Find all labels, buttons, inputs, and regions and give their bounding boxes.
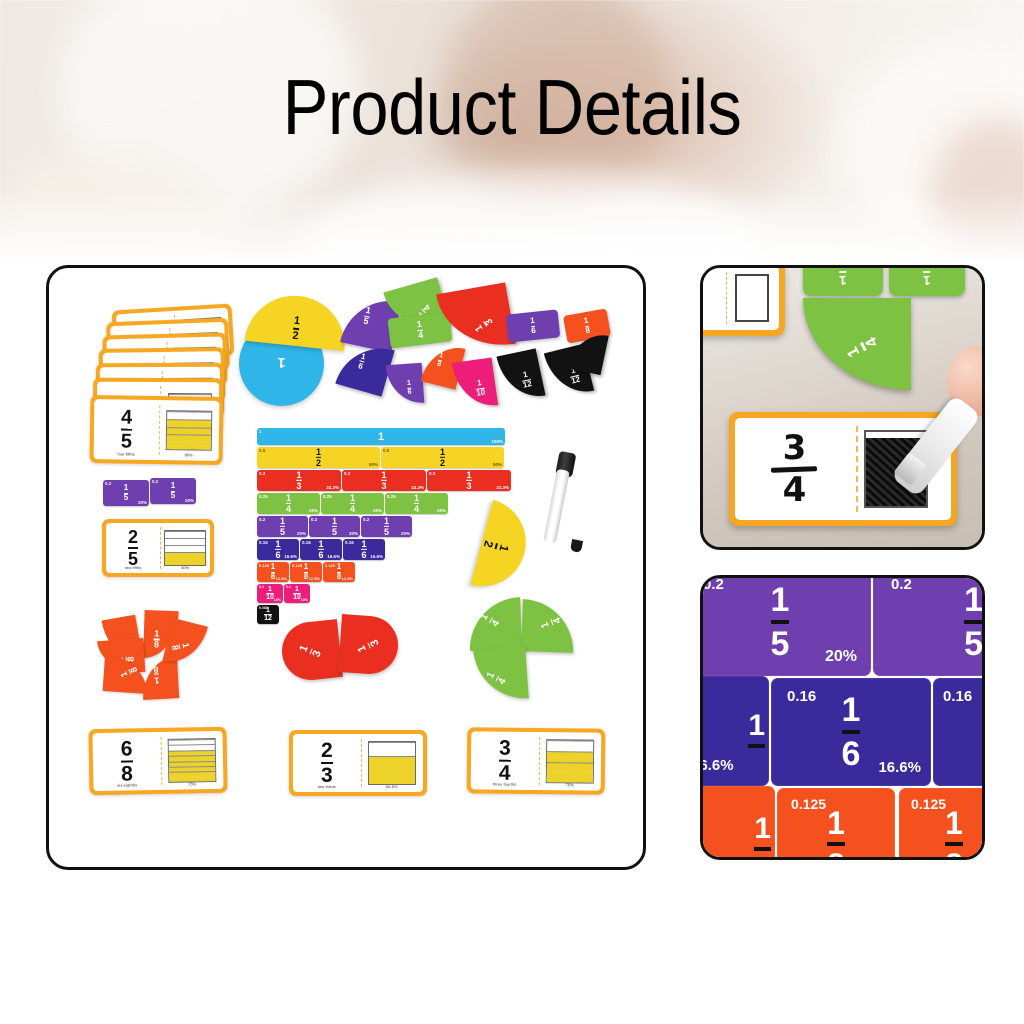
chart-tile-1-4a-numerator: 1 [286, 493, 291, 502]
chart-tile-1-3-a[interactable]: 0.3 1 3 33.3% [257, 470, 341, 491]
card-3-4[interactable]: 3 4 three fourths 75% [467, 727, 606, 794]
closeup-1-8a-numerator: 1 [754, 814, 771, 844]
wedge-1-4a-denominator: 4 [423, 302, 433, 312]
chart-tile-1-3-c[interactable]: 0.3 1 3 33.3% [427, 470, 511, 491]
chart-tile-1-4a-percent: 25% [309, 508, 318, 513]
card-2-3-numerator: 2 [321, 740, 333, 761]
wedge-1-8b-denominator: 8 [436, 361, 441, 369]
closeup-tile-1-6-c[interactable]: 0.16 [933, 678, 985, 786]
chart-tile-1-5b-numerator: 1 [332, 516, 337, 525]
chart-tile-1-12-numerator: 1 [266, 607, 270, 614]
chart-tile-1-8b-percent: 12.5% [309, 576, 320, 581]
circle-piece-half[interactable]: 1 2 [245, 291, 350, 351]
chart-tile-1-3b-denominator: 3 [381, 482, 386, 491]
chart-tile-1-12[interactable]: 0.083 1 12 [257, 605, 279, 624]
chart-tile-1-5a-denominator: 5 [280, 528, 285, 537]
fan-4-numerator: 1 [120, 670, 130, 678]
wedge-1-6-denominator: 6 [357, 362, 363, 371]
circle-half-numerator: 1 [293, 316, 300, 328]
green-quarter-b[interactable]: 1 4 [521, 599, 575, 653]
card-3-4-denominator: 4 [499, 763, 511, 784]
wedge-1-5-numerator: 1 [365, 306, 372, 316]
card-2-3-percent: 66.6% [386, 784, 397, 789]
circle-half-denominator: 2 [292, 330, 299, 342]
card-2-5-word: two fifths [125, 565, 142, 570]
green-a-numerator: 1 [480, 612, 491, 622]
chart-tile-1-8-c[interactable]: 0.125 1 8 12.5% [323, 562, 355, 582]
fan-6-numerator: 1 [181, 642, 191, 649]
chart-tile-1-2b-denominator: 2 [440, 459, 445, 468]
wedge-1-5-denominator: 5 [363, 317, 370, 327]
loose-tile-b-percent: 20% [185, 498, 194, 503]
chart-tile-1-percent: 100% [491, 439, 503, 444]
chart-tile-1-4-c[interactable]: 0.25 1 4 25% [385, 493, 448, 514]
chart-tile-1-2-a[interactable]: 0.5 1 2 50% [257, 447, 380, 468]
chart-tile-1-10a-numerator: 1 [268, 586, 272, 593]
blank-dry-erase-card[interactable]: — [700, 265, 785, 336]
card-6-8-minibar [167, 738, 216, 783]
red-wedge-b[interactable]: 1 3 [338, 614, 400, 676]
hero-fade-overlay [0, 190, 1024, 270]
red-a-denominator: 3 [311, 649, 323, 659]
fan-1-numerator: 1 [154, 629, 159, 638]
chart-tile-1-10a-denominator: 10 [266, 594, 274, 601]
chart-tile-1-3a-percent: 33.3% [326, 485, 339, 490]
chart-tile-1-8-a[interactable]: 0.125 1 8 12.5% [257, 562, 289, 582]
chart-tile-1-4c-numerator: 1 [414, 493, 419, 502]
loose-tile-a-numerator: 1 [124, 484, 128, 492]
chart-tile-1-6a-numerator: 1 [275, 539, 280, 548]
wedge-1-8top-numerator: 1 [583, 317, 589, 326]
chart-tile-1-4-b[interactable]: 0.25 1 4 25% [321, 493, 384, 514]
green-c-numerator: 1 [486, 670, 497, 680]
chart-tile-1-10-a[interactable]: 0.1 1 10 10% [257, 584, 283, 603]
card-2-5-minibar [164, 530, 206, 566]
inset-green-piece-top-b[interactable]: 1 4 [889, 265, 965, 296]
loose-tile-1-5-b[interactable]: 0.2 1 5 20% [150, 478, 196, 504]
pair-1-3-group[interactable]: 1 3 1 3 [282, 616, 402, 696]
fan-5-denominator: 8 [153, 664, 159, 673]
handwritten-numerator: 3 [783, 432, 807, 464]
card-3-4-word: three fourths [493, 782, 517, 787]
wedge-1-12a-denominator: 12 [522, 380, 532, 390]
card-6-8[interactable]: 6 8 six eighths 75% [88, 727, 227, 795]
closeup-tile-1-6-b[interactable]: 0.16 1 6 16.6% [771, 678, 931, 786]
green-quarter-c[interactable]: 1 4 [473, 646, 529, 702]
chart-tile-1-3b-percent: 33.3% [411, 485, 424, 490]
inset-green-b-numerator: 1 [923, 274, 931, 287]
chart-tile-1-8c-numerator: 1 [337, 563, 341, 571]
fan-1-8-group[interactable]: 1 8 1 8 1 8 1 8 [97, 608, 213, 700]
chart-tile-1-2-b[interactable]: 0.5 1 2 50% [381, 447, 504, 468]
chart-tile-1-6b-denominator: 6 [318, 551, 323, 560]
chart-tile-1-10b-percent: 10% [301, 598, 308, 602]
wedge-1-3-denominator: 3 [484, 316, 495, 326]
page-title: Product Details [61, 68, 962, 146]
chart-tile-1-5a-percent: 20% [297, 531, 306, 536]
closeup-tile-1-5-b[interactable]: 0.2 1 5 [873, 575, 985, 676]
chart-tile-1-4b-denominator: 4 [350, 505, 355, 514]
chart-tile-1-6-c[interactable]: 0.16 1 6 16.6% [343, 539, 385, 560]
closeup-1-6a-numerator: 1 [748, 711, 765, 741]
chart-tile-1-3a-numerator: 1 [296, 470, 301, 479]
dry-erase-marker[interactable] [557, 456, 597, 566]
wedge-stack-1-6-b[interactable]: 1 6 [506, 309, 561, 342]
chart-tile-1-5b-percent: 20% [349, 531, 358, 536]
closeup-1-5b-denominator: 5 [964, 627, 983, 661]
tile-green-1-4-loose[interactable]: 1 4 [387, 311, 452, 348]
wedge-1-10-numerator: 1 [477, 379, 483, 388]
wedge-1-3-numerator: 1 [474, 323, 485, 333]
chart-tile-1-4-a[interactable]: 0.25 1 4 25% [257, 493, 320, 514]
card-6-8-percent: 75% [188, 781, 196, 786]
chart-tile-1-3c-numerator: 1 [466, 470, 471, 479]
chart-tile-1-10b-denominator: 10 [293, 594, 301, 601]
chart-tile-1-fraction: 1 [378, 431, 384, 443]
wedge-stack-1-6-c[interactable]: 1 6 [386, 363, 425, 405]
half-loose-denominator: 2 [482, 539, 495, 549]
closeup-1-8b-numerator: 1 [827, 807, 845, 839]
chart-tile-1[interactable]: 1 1 100% [257, 428, 505, 445]
half-loose-numerator: 1 [497, 543, 510, 553]
card-6-8-numerator: 6 [121, 738, 133, 759]
loose-tile-b-numerator: 1 [171, 482, 175, 490]
chart-tile-1-2b-percent: 50% [493, 462, 502, 467]
inset-green-a-numerator: 1 [839, 274, 847, 287]
card-3-4-percent: 75% [566, 782, 574, 787]
inset-green-piece-top-a[interactable]: 1 4 [803, 265, 883, 296]
closeup-1-5b-numerator: 1 [964, 583, 983, 617]
card-3-4-minibar [546, 739, 594, 784]
chart-tile-1-8-b[interactable]: 0.125 1 8 12.5% [290, 562, 322, 582]
green-b-denominator: 4 [552, 616, 563, 625]
wedge-1-8top-denominator: 8 [585, 327, 591, 336]
red-a-numerator: 1 [298, 643, 310, 653]
closeup-1-5a-percent: 20% [825, 648, 857, 666]
wedge-1-8b-numerator: 1 [438, 352, 443, 360]
chart-tile-1-8a-denominator: 8 [271, 573, 275, 581]
chart-tile-1-4b-numerator: 1 [350, 493, 355, 502]
chart-tile-1-5c-denominator: 5 [384, 528, 389, 537]
chart-tile-1-2a-numerator: 1 [316, 447, 321, 456]
fan-1-denominator: 8 [154, 641, 159, 650]
card-3-4-numerator: 3 [499, 738, 511, 759]
closeup-1-6c-decimal: 0.16 [943, 688, 972, 705]
wedge-1-6b-numerator: 1 [530, 317, 535, 325]
chart-tile-1-5b-denominator: 5 [332, 528, 337, 537]
closeup-tile-1-5-a[interactable]: 0.2 1 5 20% [700, 575, 871, 676]
card-2-5-numerator: 2 [128, 528, 138, 546]
card-6-8-word: six eighths [117, 782, 137, 787]
chart-tile-1-6-b[interactable]: 0.16 1 6 16.6% [300, 539, 342, 560]
closeup-tile-1-6-a[interactable]: 1 16.6% [700, 676, 769, 786]
inset-green-c-denominator: 4 [863, 334, 881, 349]
stack-front-card-4-5[interactable]: 4 5 four fifths 80% [90, 395, 224, 465]
card-2-3-denominator: 3 [321, 765, 333, 786]
chart-tile-1-4c-percent: 25% [437, 508, 446, 513]
red-wedge-a[interactable]: 1 3 [279, 619, 343, 683]
inset-green-a-denominator: 4 [839, 265, 847, 270]
chart-tile-1-8c-percent: 12.5% [342, 576, 353, 581]
handwritten-denominator: 4 [783, 474, 807, 506]
red-b-denominator: 3 [369, 637, 382, 647]
chart-tile-1-5c-numerator: 1 [384, 516, 389, 525]
chart-tile-1-3b-numerator: 1 [381, 470, 386, 479]
chart-tile-1-8b-numerator: 1 [304, 563, 308, 571]
front-card-denominator: 5 [121, 432, 132, 452]
loose-tile-1-5-a[interactable]: 0.2 1 5 20% [103, 480, 149, 506]
chart-tile-1-6c-percent: 16.6% [370, 554, 383, 559]
wedge-1-6b-denominator: 6 [531, 327, 536, 335]
card-2-3[interactable]: 2 3 two thirds 66.6% [289, 730, 427, 796]
wedge-1-10-denominator: 10 [476, 389, 486, 398]
front-card-minibar [166, 410, 213, 451]
chart-tile-1-5c-percent: 20% [401, 531, 410, 536]
chart-tile-1-10a-percent: 10% [274, 598, 281, 602]
chart-tile-1-8c-denominator: 8 [337, 573, 341, 581]
chart-tile-1-6a-denominator: 6 [275, 551, 280, 560]
inset-panel-tile-closeup: 0.2 1 5 20% 0.2 1 5 1 16.6% 0.16 1 6 16.… [700, 575, 985, 860]
card-2-5-percent: 40% [181, 565, 189, 570]
closeup-1-5a-denominator: 5 [771, 627, 790, 661]
loose-green-numerator: 1 [416, 320, 422, 330]
green-c-denominator: 4 [497, 676, 508, 686]
closeup-tile-1-8-c[interactable]: 0.125 1 8 [899, 788, 985, 860]
loose-tile-a-percent: 20% [138, 500, 147, 505]
chart-tile-1-5a-numerator: 1 [280, 516, 285, 525]
chart-tile-1-3c-denominator: 3 [466, 482, 471, 491]
chart-tile-1-3-b[interactable]: 0.3 1 3 33.3% [342, 470, 426, 491]
chart-tile-1-2a-denominator: 2 [316, 459, 321, 468]
front-card-percent: 80% [185, 452, 193, 457]
card-2-3-minibar [368, 741, 416, 785]
chart-tile-1-3c-percent: 33.3% [496, 485, 509, 490]
closeup-1-6b-denominator: 6 [842, 737, 861, 771]
inset-panel-writing-closeup: — 1 4 1 4 1 4 [700, 265, 985, 550]
chart-tile-1-10b-numerator: 1 [295, 586, 299, 593]
chart-tile-1-4c-denominator: 4 [414, 505, 419, 514]
main-product-panel: 8 — [46, 265, 646, 870]
loose-tile-b-denominator: 5 [171, 492, 175, 500]
chart-tile-1-6b-numerator: 1 [318, 539, 323, 548]
chart-tile-1-6-a[interactable]: 0.16 1 6 16.6% [257, 539, 299, 560]
chart-tile-1-8a-numerator: 1 [271, 563, 275, 571]
fan-wedge-5[interactable]: 1 8 [141, 656, 179, 700]
wedge-1-12b-denominator: 12 [570, 376, 581, 386]
chart-tile-1-2a-percent: 50% [369, 462, 378, 467]
wedge-1-12a-numerator: 1 [522, 371, 528, 380]
closeup-1-8b-denominator: 8 [827, 849, 845, 860]
marker-tip [570, 539, 583, 553]
chart-tile-1-4b-percent: 25% [373, 508, 382, 513]
chart-tile-1-10-b[interactable]: 0.1 1 10 10% [284, 584, 310, 603]
card-2-3-word: two thirds [318, 784, 336, 789]
loose-tile-a-denominator: 5 [124, 494, 128, 502]
wedge-stack-1-10[interactable]: 1 10 [452, 357, 498, 410]
chart-tile-1-12-denominator: 12 [264, 615, 272, 622]
green-b-numerator: 1 [541, 620, 552, 629]
chart-tile-1-6c-denominator: 6 [361, 551, 366, 560]
green-quarter-a[interactable]: 1 4 [468, 597, 522, 651]
closeup-1-5a-numerator: 1 [771, 583, 790, 617]
chart-tile-1-6c-numerator: 1 [361, 539, 366, 548]
wedge-1-6c-denominator: 6 [407, 389, 411, 396]
trio-1-4-group[interactable]: 1 4 1 4 1 4 [469, 598, 589, 698]
wedge-1-6-numerator: 1 [360, 352, 366, 361]
loose-green-denominator: 4 [418, 331, 424, 341]
inset-green-c-numerator: 1 [844, 344, 862, 359]
chart-tile-1-6a-percent: 16.6% [284, 554, 297, 559]
chart-tile-1-5-c[interactable]: 0.2 1 5 20% [361, 516, 412, 537]
wedge-stack-1-12-a[interactable]: 1 12 [496, 348, 545, 403]
inset-green-b-denominator: 4 [923, 265, 931, 270]
chart-tile-1-3a-denominator: 3 [296, 482, 301, 491]
chart-tile-1-6b-percent: 16.6% [327, 554, 340, 559]
front-card-numerator: 4 [121, 408, 132, 428]
fan-6-denominator: 8 [170, 644, 180, 651]
card-2-5[interactable]: 2 5 two fifths 40% [102, 519, 214, 577]
closeup-1-6a-percent: 16.6% [700, 757, 734, 774]
chart-tile-1-8b-denominator: 8 [304, 573, 308, 581]
wedge-stack-1-3[interactable]: 1 3 [436, 282, 516, 355]
chart-tile-1-8a-percent: 12.5% [276, 576, 287, 581]
front-card-word: four fifths [117, 451, 135, 456]
chart-tile-1-5-a[interactable]: 0.2 1 5 20% [257, 516, 308, 537]
fan-5-numerator: 1 [154, 675, 160, 684]
closeup-1-6b-numerator: 1 [842, 693, 861, 727]
chart-tile-1-2b-numerator: 1 [440, 447, 445, 456]
chart-tile-1-4a-denominator: 4 [286, 505, 291, 514]
chart-tile-1-5-b[interactable]: 0.2 1 5 20% [309, 516, 360, 537]
red-b-numerator: 1 [356, 643, 369, 653]
closeup-1-8c-numerator: 1 [945, 807, 963, 839]
closeup-1-6b-percent: 16.6% [878, 759, 921, 776]
marker-body [543, 469, 570, 544]
closeup-tile-1-8-b[interactable]: 0.125 1 8 [777, 788, 895, 860]
fan-3-denominator: 8 [127, 656, 136, 662]
closeup-tile-1-8-a[interactable]: 1 [700, 786, 775, 860]
green-a-denominator: 4 [491, 618, 502, 628]
closeup-1-8c-denominator: 8 [945, 849, 963, 860]
wedge-1-6c-numerator: 1 [407, 380, 411, 387]
